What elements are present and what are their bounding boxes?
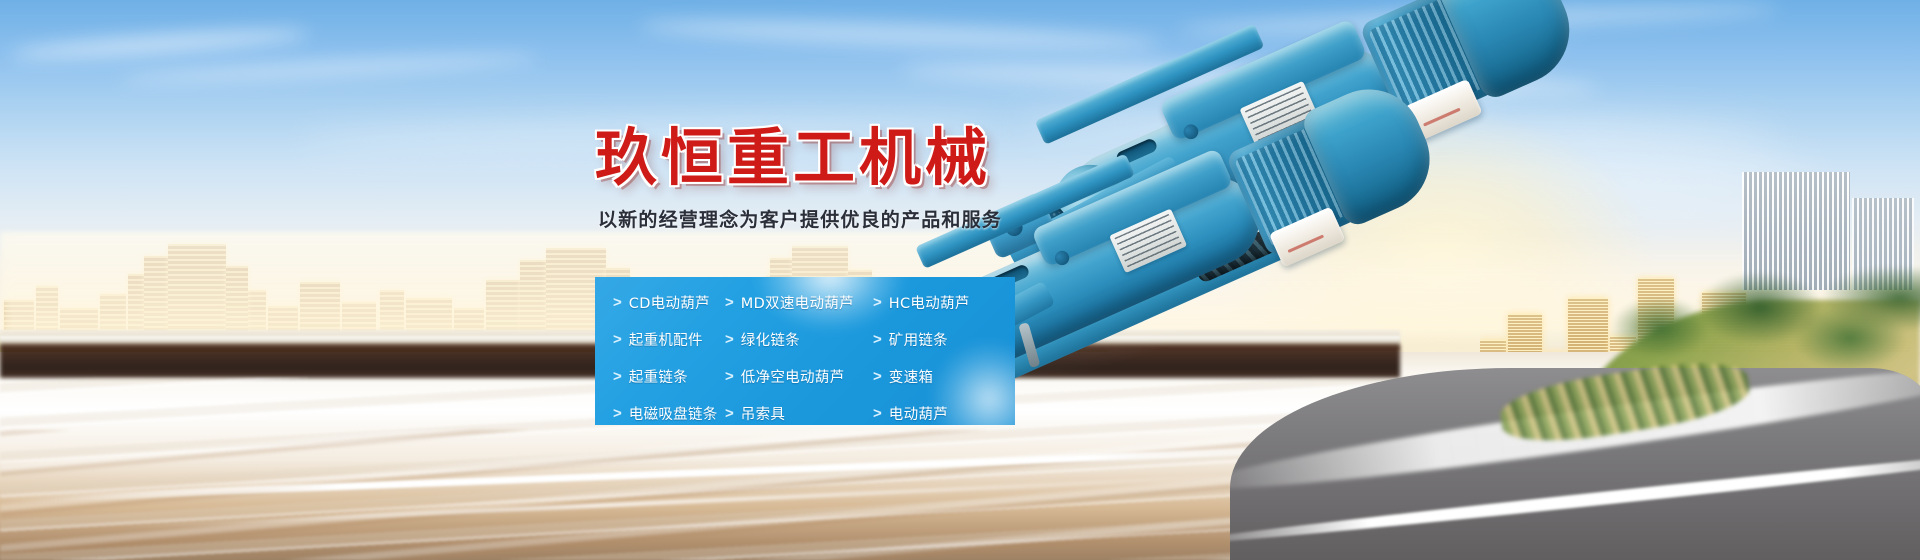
product-label: 矿用链条: [889, 329, 948, 350]
product-label: HC电动葫芦: [889, 292, 970, 313]
product-label: 吊索具: [741, 403, 785, 424]
cloud-streak-icon: [900, 57, 1600, 101]
product-link-low-headroom-hoist[interactable]: > 低净空电动葫芦: [725, 358, 873, 395]
cloud-streak-icon: [640, 15, 1160, 55]
product-label: 电动葫芦: [889, 403, 948, 424]
cloud-streak-icon: [1180, 0, 1780, 38]
company-name-title: 玖恒重工机械: [595, 127, 1002, 189]
chevron-right-icon: >: [613, 369, 622, 384]
chevron-right-icon: >: [873, 295, 882, 310]
product-label: 电磁吸盘链条: [629, 403, 718, 424]
product-link-crane-parts[interactable]: > 起重机配件: [613, 321, 725, 358]
chevron-right-icon: >: [725, 295, 734, 310]
product-link-md-hoist[interactable]: > MD双速电动葫芦: [725, 284, 873, 321]
chevron-right-icon: >: [725, 406, 734, 421]
product-label: 起重链条: [629, 366, 688, 387]
product-link-gearbox[interactable]: > 变速箱: [873, 358, 1015, 395]
product-label: MD双速电动葫芦: [741, 292, 854, 313]
product-label: 绿化链条: [741, 329, 800, 350]
product-link-lifting-chain[interactable]: > 起重链条: [613, 358, 725, 395]
product-category-panel: > CD电动葫芦 > MD双速电动葫芦 > HC电动葫芦 > 起重机配件 > 绿…: [595, 277, 1015, 425]
product-label: CD电动葫芦: [629, 292, 710, 313]
chevron-right-icon: >: [873, 406, 882, 421]
chevron-right-icon: >: [725, 332, 734, 347]
chevron-right-icon: >: [613, 406, 622, 421]
product-label: 起重机配件: [629, 329, 703, 350]
chevron-right-icon: >: [873, 332, 882, 347]
chevron-right-icon: >: [873, 369, 882, 384]
product-link-hc-hoist[interactable]: > HC电动葫芦: [873, 284, 1015, 321]
product-link-magnetic-chain[interactable]: > 电磁吸盘链条: [613, 395, 725, 425]
promo-banner: 玖恒重工机械 以新的经营理念为客户提供优良的产品和服务 > CD电动葫芦 > M…: [0, 0, 1920, 560]
product-label: 变速箱: [889, 366, 933, 387]
cloud-streak-icon: [120, 51, 540, 86]
product-category-grid: > CD电动葫芦 > MD双速电动葫芦 > HC电动葫芦 > 起重机配件 > 绿…: [595, 277, 1015, 425]
product-label: 低净空电动葫芦: [741, 366, 845, 387]
banner-subtitle: 以新的经营理念为客户提供优良的产品和服务: [598, 205, 1002, 232]
product-link-cd-hoist[interactable]: > CD电动葫芦: [613, 284, 725, 321]
product-link-mining-chain[interactable]: > 矿用链条: [873, 321, 1015, 358]
product-link-green-chain[interactable]: > 绿化链条: [725, 321, 873, 358]
chevron-right-icon: >: [613, 295, 622, 310]
cloud-streak-icon: [10, 26, 310, 63]
chevron-right-icon: >: [725, 369, 734, 384]
banner-headline-group: 玖恒重工机械 以新的经营理念为客户提供优良的产品和服务: [595, 127, 1002, 232]
product-link-electric-hoist[interactable]: > 电动葫芦: [873, 395, 1015, 425]
chevron-right-icon: >: [613, 332, 622, 347]
product-link-slings[interactable]: > 吊索具: [725, 395, 873, 425]
